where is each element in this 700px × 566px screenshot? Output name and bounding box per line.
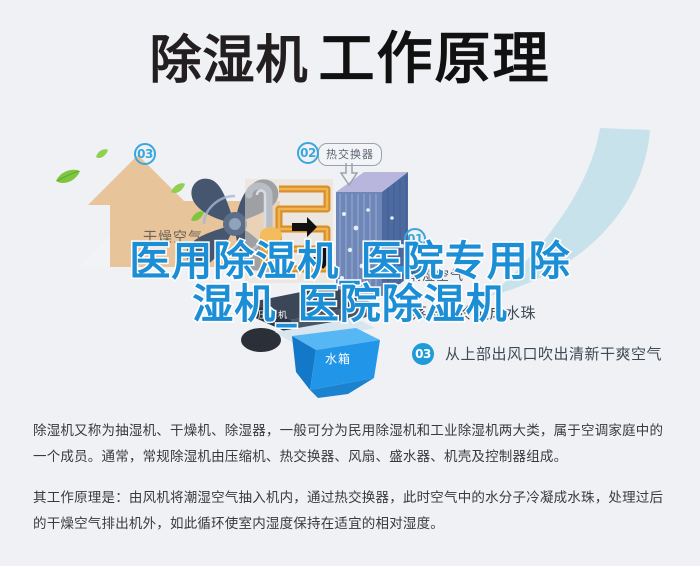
body-paragraph-1: 除湿机又称为抽湿机、干燥机、除湿器，一般可分为民用除湿机和工业除湿机两大类，属于… (33, 418, 673, 471)
heat-exchanger-callout-label: 热交换器 (326, 148, 374, 161)
page-title-part1: 除湿机 (149, 35, 308, 87)
label-water-tank: 水箱 (325, 350, 351, 367)
note-air-outlet: 从上部出风口吹出清新干爽空气 (445, 343, 662, 364)
page-root: 除湿机 工作原理 (0, 0, 700, 566)
body-paragraph-2: 其工作原理是：由风机将潮湿空气抽入机内，通过热交换器，此时空气中的水分子冷凝成水… (33, 485, 673, 538)
page-header: 除湿机 工作原理 (0, 22, 700, 98)
label-humid-air: 潮湿空气 (408, 265, 464, 284)
badge-03: 03 (134, 143, 156, 165)
page-title: 除湿机 工作原理 (149, 32, 550, 88)
leaf-icon (95, 148, 109, 160)
working-principle-diagram: 热交换器 02 01 03 干燥空气 潮湿空气 水箱 压缩机 蒸发器冷凝成水珠 … (0, 110, 700, 405)
body-copy: 除湿机又称为抽湿机、干燥机、除湿器，一般可分为民用除湿机和工业除湿机两大类，属于… (33, 418, 673, 537)
badge-03-note: 03 (412, 343, 434, 365)
page-title-part2: 工作原理 (319, 32, 551, 88)
note-condensation: 蒸发器冷凝成水珠 (412, 302, 536, 323)
callout-pointer-icon (340, 163, 360, 187)
leaf-icon (55, 168, 81, 186)
label-compressor: 压缩机 (258, 308, 288, 321)
label-dry-air: 干燥空气 (143, 227, 203, 247)
badge-01: 01 (404, 228, 426, 250)
badge-02: 02 (297, 142, 319, 164)
